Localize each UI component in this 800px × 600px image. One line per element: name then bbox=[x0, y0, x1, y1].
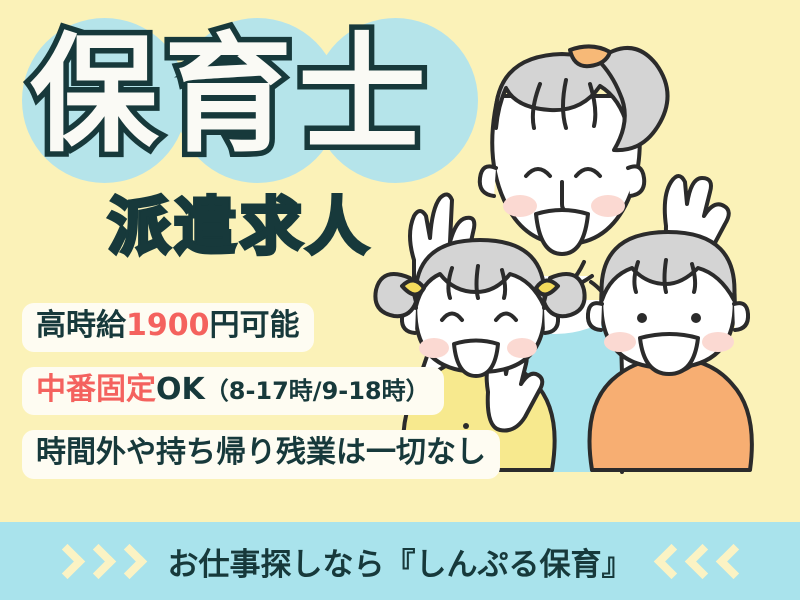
feature-badge-shift-fixed: 中番固定OK（8-17時/9-18時） bbox=[22, 367, 444, 416]
feature-badge-no-overtime: 時間外や持ち帰り残業は一切なし bbox=[22, 430, 500, 479]
feature-text-part: 円可能 bbox=[210, 308, 300, 343]
brand-name: しんぷる保育 bbox=[416, 547, 602, 583]
chevron-left-icon bbox=[715, 543, 750, 578]
banner-tail-text: 』 bbox=[602, 547, 633, 583]
feature-text-part: OK bbox=[156, 372, 205, 407]
feature-text-note: （8-17時/9-18時） bbox=[205, 377, 430, 405]
feature-badge-hourly-wage: 高時給1900円可能 bbox=[22, 303, 314, 352]
feature-text-part: 時間外や持ち帰り残業は一切なし bbox=[36, 435, 486, 470]
chevron-group-left bbox=[55, 549, 142, 574]
feature-text-part: 高時給 bbox=[36, 308, 126, 343]
bottom-cta-banner: お仕事探しなら『しんぷる保育』 bbox=[0, 522, 800, 600]
feature-text-accent: 1900 bbox=[126, 308, 210, 343]
chevron-right-icon bbox=[111, 543, 146, 578]
feature-badge-row: 時間外や持ち帰り残業は一切なし bbox=[22, 430, 500, 494]
banner-canvas: 保育士 派遣求人 高時給1900円可能 中番固定OK（8-17時/9-18時） … bbox=[0, 0, 800, 600]
banner-lead-text: お仕事探しなら『 bbox=[168, 547, 416, 583]
chevron-group-right bbox=[659, 549, 746, 574]
page-subtitle: 派遣求人 bbox=[108, 196, 372, 258]
feature-badge-row: 高時給1900円可能 bbox=[22, 303, 500, 367]
feature-badge-row: 中番固定OK（8-17時/9-18時） bbox=[22, 367, 500, 431]
feature-text-accent: 中番固定 bbox=[36, 372, 156, 407]
banner-message: お仕事探しなら『しんぷる保育』 bbox=[168, 539, 633, 584]
feature-badge-list: 高時給1900円可能 中番固定OK（8-17時/9-18時） 時間外や持ち帰り残… bbox=[22, 303, 500, 494]
